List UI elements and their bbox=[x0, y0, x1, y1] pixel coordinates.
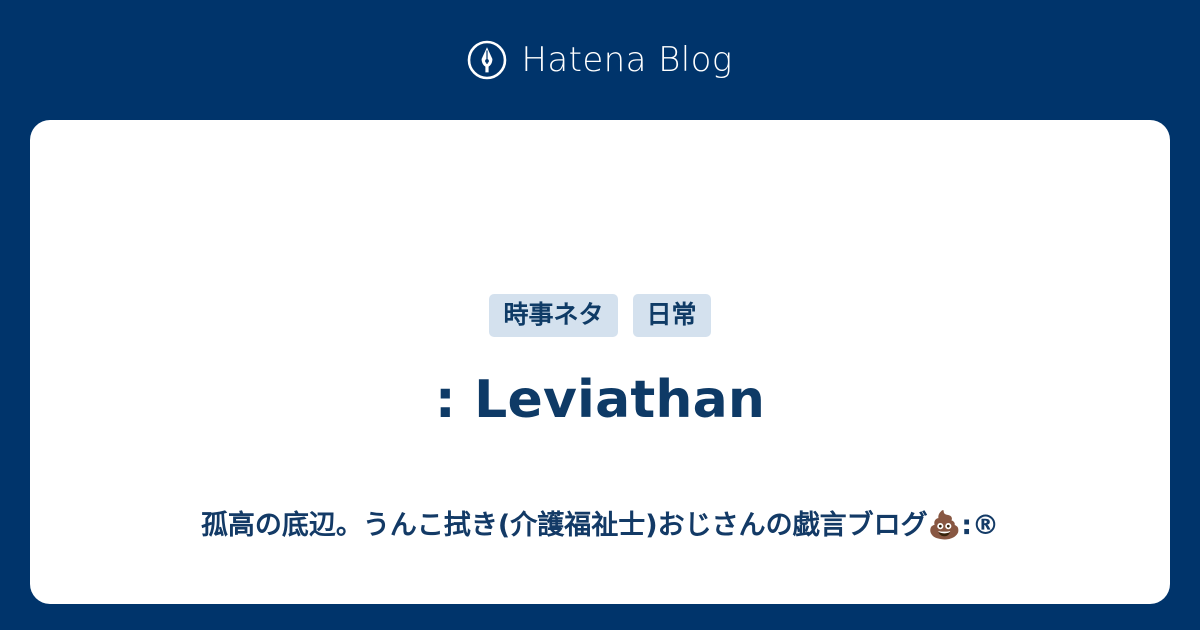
blog-subtitle: 孤高の底辺。うんこ拭き(介護福祉士)おじさんの戯言ブログ💩:® bbox=[30, 510, 1170, 542]
tag-item-nichijo[interactable]: 日常 bbox=[633, 294, 711, 337]
blog-subtitle-suffix: :® bbox=[961, 510, 999, 541]
og-image-canvas: Hatena Blog 時事ネタ 日常 : Leviathan 孤高の底辺。うん… bbox=[0, 0, 1200, 630]
hatena-blog-brand: Hatena Blog bbox=[0, 0, 1200, 120]
fountain-pen-nib-in-circle-icon bbox=[467, 40, 507, 80]
brand-name: Hatena Blog bbox=[521, 43, 732, 77]
poop-emoji-icon: 💩 bbox=[928, 510, 962, 541]
tag-list: 時事ネタ 日常 bbox=[489, 294, 710, 337]
blog-subtitle-text: 孤高の底辺。うんこ拭き(介護福祉士)おじさんの戯言ブログ bbox=[201, 510, 928, 541]
entry-card: 時事ネタ 日常 : Leviathan 孤高の底辺。うんこ拭き(介護福祉士)おじ… bbox=[30, 120, 1170, 604]
entry-title: : Leviathan bbox=[395, 371, 805, 431]
tag-item-jiji-neta[interactable]: 時事ネタ bbox=[489, 294, 617, 337]
